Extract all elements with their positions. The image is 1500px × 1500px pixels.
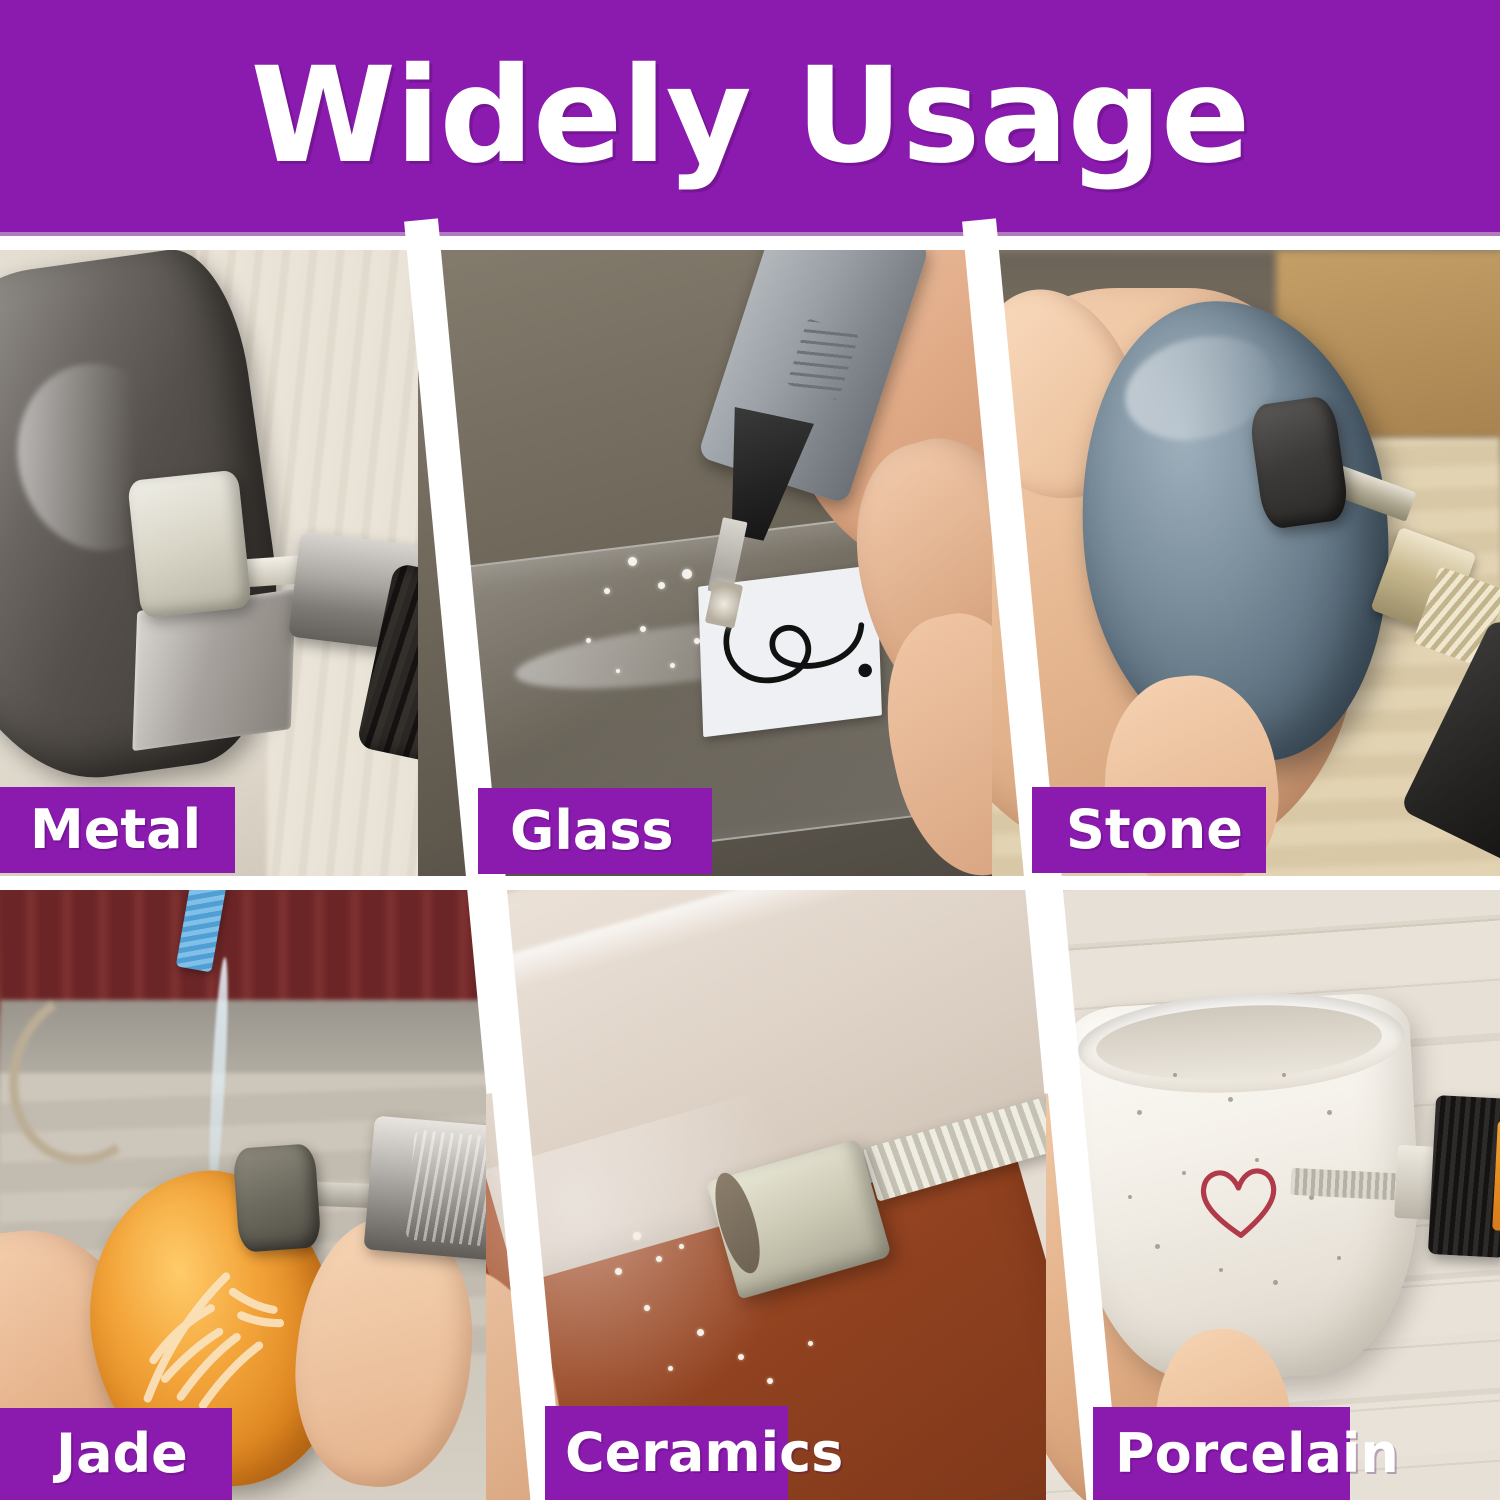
usage-gallery: Metal: [0, 250, 1500, 1500]
badge-jade: Jade: [0, 1408, 232, 1500]
badge-jade-label: Jade: [56, 1427, 188, 1481]
badge-metal: Metal: [0, 787, 235, 873]
widely-usage-infographic: Widely Usage Metal: [0, 0, 1500, 1500]
glass-photo: [418, 250, 1018, 876]
badge-porcelain-label: Porcelain: [1115, 1427, 1399, 1481]
gallery-row-bottom: Jade: [0, 890, 1500, 1500]
badge-ceramics-label: Ceramics: [565, 1426, 843, 1480]
badge-stone-label: Stone: [1066, 803, 1243, 857]
header-banner: Widely Usage: [0, 0, 1500, 232]
panel-stone[interactable]: Stone: [992, 250, 1500, 876]
badge-glass-label: Glass: [510, 804, 674, 858]
heart-outline-icon: [1193, 1144, 1285, 1258]
panel-ceramics[interactable]: Ceramics: [486, 890, 1072, 1500]
stone-photo: [992, 250, 1500, 876]
badge-ceramics: Ceramics: [545, 1406, 788, 1500]
badge-glass: Glass: [478, 788, 712, 874]
page-title: Widely Usage: [251, 50, 1250, 182]
badge-metal-label: Metal: [30, 803, 201, 857]
panel-metal[interactable]: Metal: [0, 250, 445, 876]
badge-porcelain: Porcelain: [1093, 1407, 1350, 1500]
header-divider: [0, 232, 1500, 236]
badge-stone: Stone: [1032, 787, 1266, 873]
panel-glass[interactable]: Glass: [418, 250, 1018, 876]
panel-porcelain[interactable]: Porcelain: [1046, 890, 1500, 1500]
panel-jade[interactable]: Jade: [0, 890, 512, 1500]
gallery-row-top: Metal: [0, 250, 1500, 876]
metal-photo: [0, 250, 445, 876]
